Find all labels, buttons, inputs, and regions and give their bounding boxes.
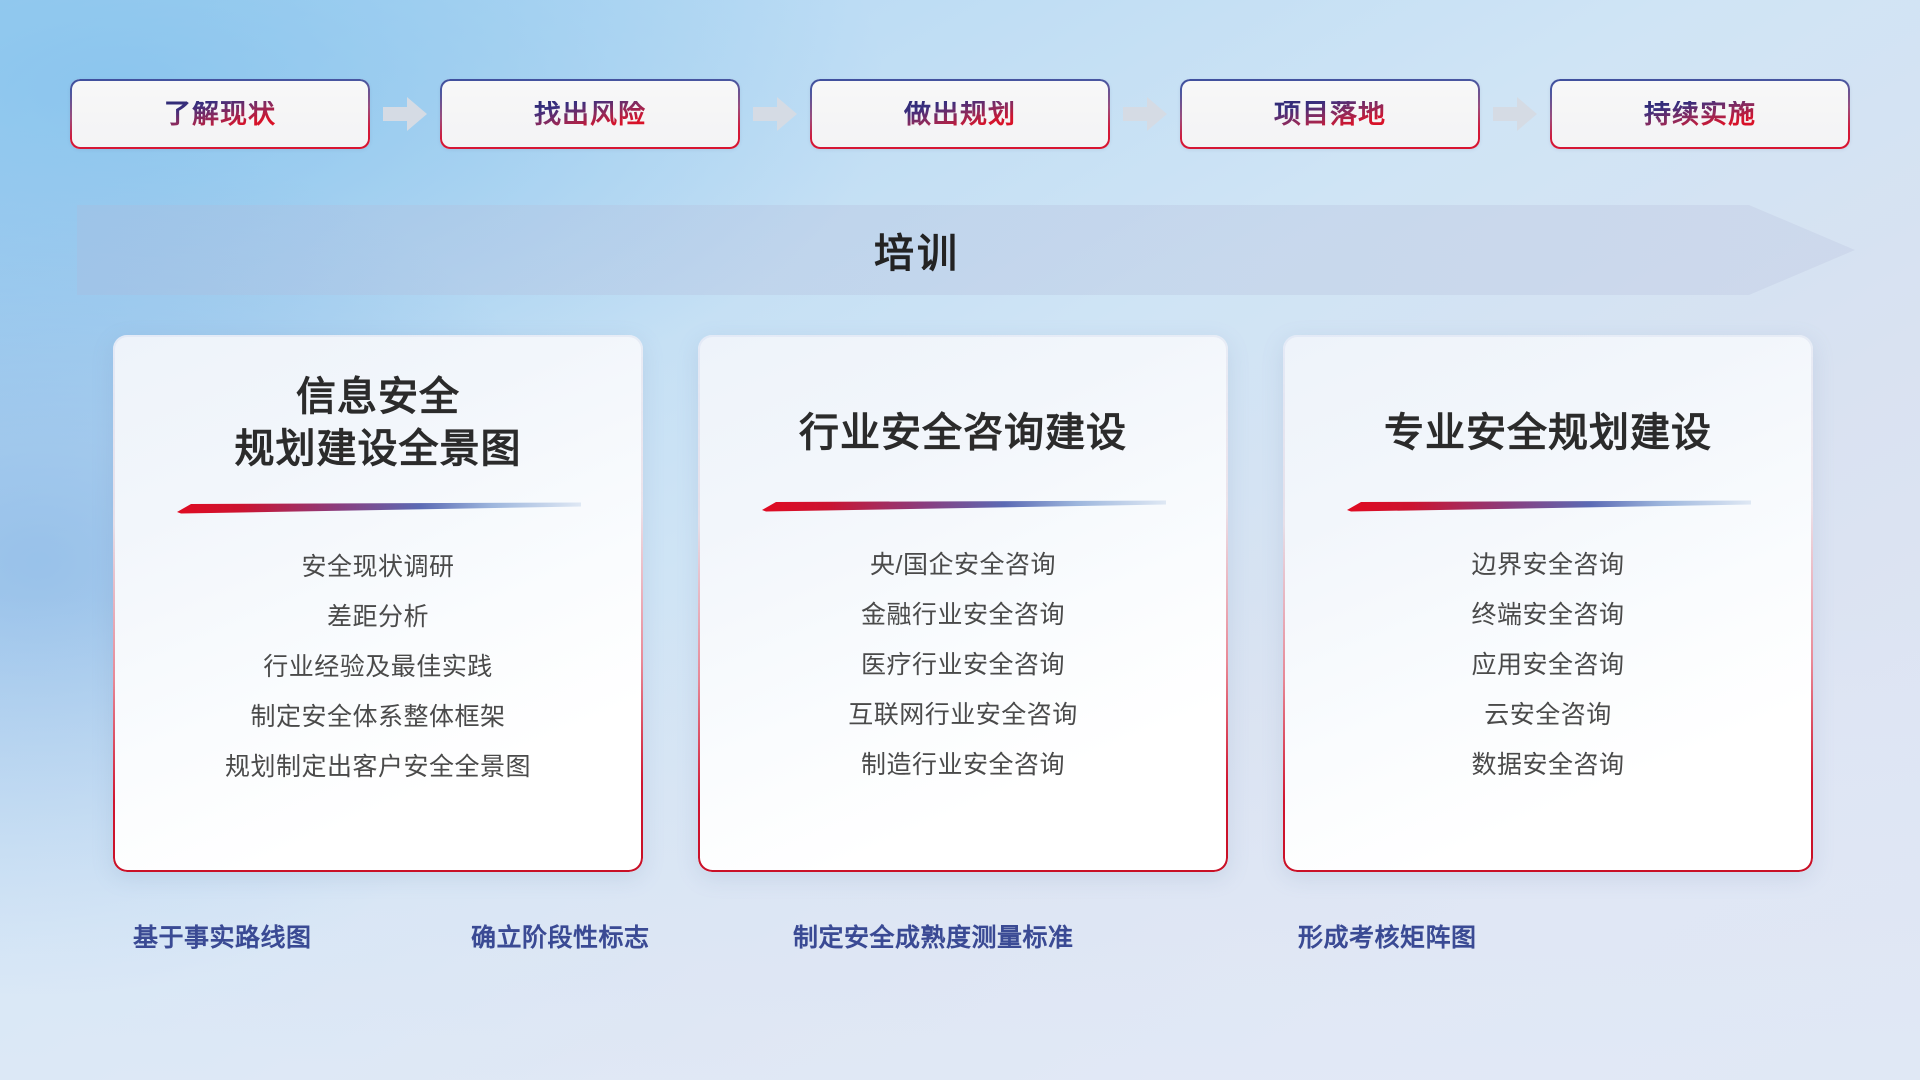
card-title: 行业安全咨询建设 (781, 407, 1145, 459)
card-security-panorama[interactable]: 信息安全 规划建设全景图 (113, 335, 643, 872)
card-divider (760, 499, 1166, 512)
list-item: 金融行业安全咨询 (861, 590, 1065, 640)
list-item: 边界安全咨询 (1471, 540, 1624, 590)
footnote-row: 基于事实路线图 确立阶段性标志 制定安全成熟度测量标准 形成考核矩阵图 (0, 918, 1920, 962)
step-box-3[interactable]: 做出规划 (810, 79, 1110, 149)
arrow-right-icon (1493, 97, 1537, 131)
banner-title: 培训 (77, 205, 1757, 295)
list-item: 制定安全体系整体框架 (250, 692, 505, 742)
step-label: 项目落地 (1274, 101, 1386, 128)
card-item-list: 央/国企安全咨询 金融行业安全咨询 医疗行业安全咨询 互联网行业安全咨询 制造行… (698, 540, 1228, 790)
footnote-label: 确立阶段性标志 (471, 918, 650, 954)
process-step-row: 了解现状 找出风险 做出规划 项目落地 持续实施 (70, 78, 1850, 150)
list-item: 数据安全咨询 (1471, 740, 1624, 790)
card-divider (175, 501, 581, 514)
footnote-label: 基于事实路线图 (133, 918, 312, 954)
list-item: 制造行业安全咨询 (861, 740, 1065, 790)
list-item: 行业经验及最佳实践 (263, 642, 493, 692)
card-item-list: 边界安全咨询 终端安全咨询 应用安全咨询 云安全咨询 数据安全咨询 (1283, 540, 1813, 790)
step-box-5[interactable]: 持续实施 (1550, 79, 1850, 149)
list-item: 终端安全咨询 (1471, 590, 1624, 640)
step-label: 找出风险 (534, 101, 646, 128)
card-professional-planning[interactable]: 专业安全规划建设 (1283, 335, 1813, 872)
list-item: 安全现状调研 (301, 542, 454, 592)
step-label: 持续实施 (1644, 101, 1756, 128)
footnote-label: 制定安全成熟度测量标准 (793, 918, 1074, 954)
step-box-4[interactable]: 项目落地 (1180, 79, 1480, 149)
step-box-2[interactable]: 找出风险 (440, 79, 740, 149)
card-industry-consulting[interactable]: 行业安全咨询建设 (698, 335, 1228, 872)
step-label: 了解现状 (164, 101, 276, 128)
step-label: 做出规划 (904, 101, 1016, 128)
list-item: 云安全咨询 (1484, 690, 1612, 740)
card-title: 专业安全规划建设 (1366, 407, 1730, 459)
footnote-label: 形成考核矩阵图 (1298, 918, 1477, 954)
list-item: 差距分析 (327, 592, 429, 642)
arrow-right-icon (753, 97, 797, 131)
list-item: 互联网行业安全咨询 (848, 690, 1078, 740)
training-banner: 培训 (77, 205, 1855, 295)
card-row: 信息安全 规划建设全景图 (113, 335, 1813, 875)
list-item: 央/国企安全咨询 (870, 540, 1056, 590)
card-divider (1345, 499, 1751, 512)
arrow-right-icon (383, 97, 427, 131)
list-item: 规划制定出客户安全全景图 (225, 742, 531, 792)
card-item-list: 安全现状调研 差距分析 行业经验及最佳实践 制定安全体系整体框架 规划制定出客户… (113, 542, 643, 792)
card-title: 信息安全 规划建设全景图 (217, 371, 540, 475)
arrow-right-icon (1123, 97, 1167, 131)
step-box-1[interactable]: 了解现状 (70, 79, 370, 149)
list-item: 应用安全咨询 (1471, 640, 1624, 690)
list-item: 医疗行业安全咨询 (861, 640, 1065, 690)
slide-canvas: 了解现状 找出风险 做出规划 项目落地 持续实施 (0, 0, 1920, 1080)
